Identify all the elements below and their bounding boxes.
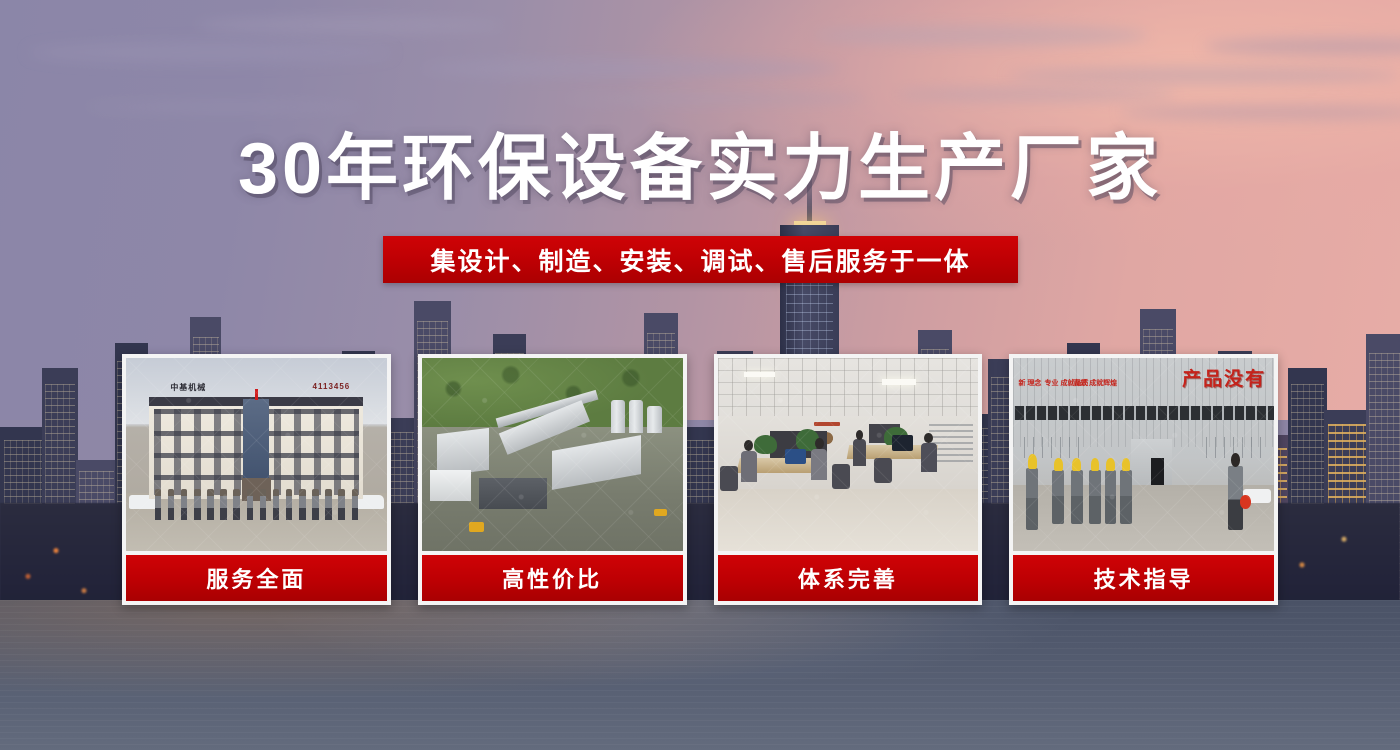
subtitle-text: 集设计、制造、安装、调试、售后服务于一体 [430, 242, 970, 278]
card-label-text: 技术指导 [1094, 562, 1194, 594]
office-building-with-staff-photo: 中基机械 4113456 [126, 358, 387, 551]
card-label: 服务全面 [126, 555, 387, 601]
excavator [469, 522, 485, 532]
worker-with-hardhat [1026, 468, 1038, 530]
factory-workers-training-photo: 产品没有 新 理念 专业 成就品质 高效 成就辉煌 [1013, 358, 1274, 551]
feature-card-value[interactable]: 高性价比 [418, 354, 687, 605]
flag [255, 389, 259, 401]
building-phone-sign: 4113456 [313, 382, 351, 391]
card-label: 体系完善 [718, 555, 979, 601]
page-title: 30年环保设备实力生产厂家 [0, 133, 1400, 205]
cloud [1008, 67, 1400, 84]
building-company-sign: 中基机械 [170, 382, 206, 393]
office-chair [874, 458, 892, 483]
feature-card-system[interactable]: 体系完善 [714, 354, 983, 605]
excavator [654, 509, 667, 517]
worker-with-hardhat [1105, 470, 1117, 524]
card-label: 高性价比 [422, 555, 683, 601]
cloud [1120, 105, 1400, 120]
worker-with-hardhat [1120, 470, 1132, 524]
cloud [28, 42, 392, 63]
ceiling-light [882, 379, 916, 385]
cloud [896, 88, 1176, 101]
worker-with-hardhat [1089, 470, 1101, 524]
feature-card-guidance[interactable]: 产品没有 新 理念 专业 成就品质 高效 成就辉煌 [1009, 354, 1278, 605]
subtitle-bar: 集设计、制造、安装、调试、售后服务于一体 [383, 236, 1018, 283]
card-label: 技术指导 [1013, 555, 1274, 601]
person [811, 449, 827, 480]
cloud [196, 17, 504, 34]
feature-card-service[interactable]: 中基机械 4113456 服务全面 [122, 354, 391, 605]
feature-card-list: 中基机械 4113456 服务全面 [122, 354, 1278, 605]
staff-row [155, 489, 358, 520]
card-label-text: 服务全面 [206, 562, 306, 594]
worker-with-hardhat [1071, 470, 1083, 524]
cloud [420, 59, 840, 78]
monitor [892, 435, 913, 450]
laptop [785, 449, 806, 464]
office-interior-staff-working-photo [718, 358, 979, 551]
cloud [1204, 38, 1400, 55]
card-label-text: 高性价比 [502, 562, 602, 594]
person [921, 443, 937, 472]
river-water [0, 600, 1400, 750]
factory-slogan: 高效 成就辉煌 [1073, 379, 1117, 390]
office-chair [720, 466, 738, 491]
potted-plant [754, 435, 777, 454]
person [853, 439, 866, 466]
promo-banner: 30年环保设备实力生产厂家 集设计、制造、安装、调试、售后服务于一体 中基机械 … [0, 0, 1400, 750]
factory-wall-text: 产品没有 [1182, 364, 1266, 391]
aerial-industrial-plant-photo [422, 358, 683, 551]
person [741, 451, 757, 482]
office-chair [832, 464, 850, 489]
red-hardhat [1240, 495, 1250, 509]
ceiling-light [744, 372, 775, 378]
worker-with-hardhat [1052, 470, 1064, 524]
factory-slogan: 新 理念 [1018, 379, 1041, 390]
cloud [560, 92, 868, 105]
card-label-text: 体系完善 [798, 562, 898, 594]
cloud [84, 101, 364, 114]
